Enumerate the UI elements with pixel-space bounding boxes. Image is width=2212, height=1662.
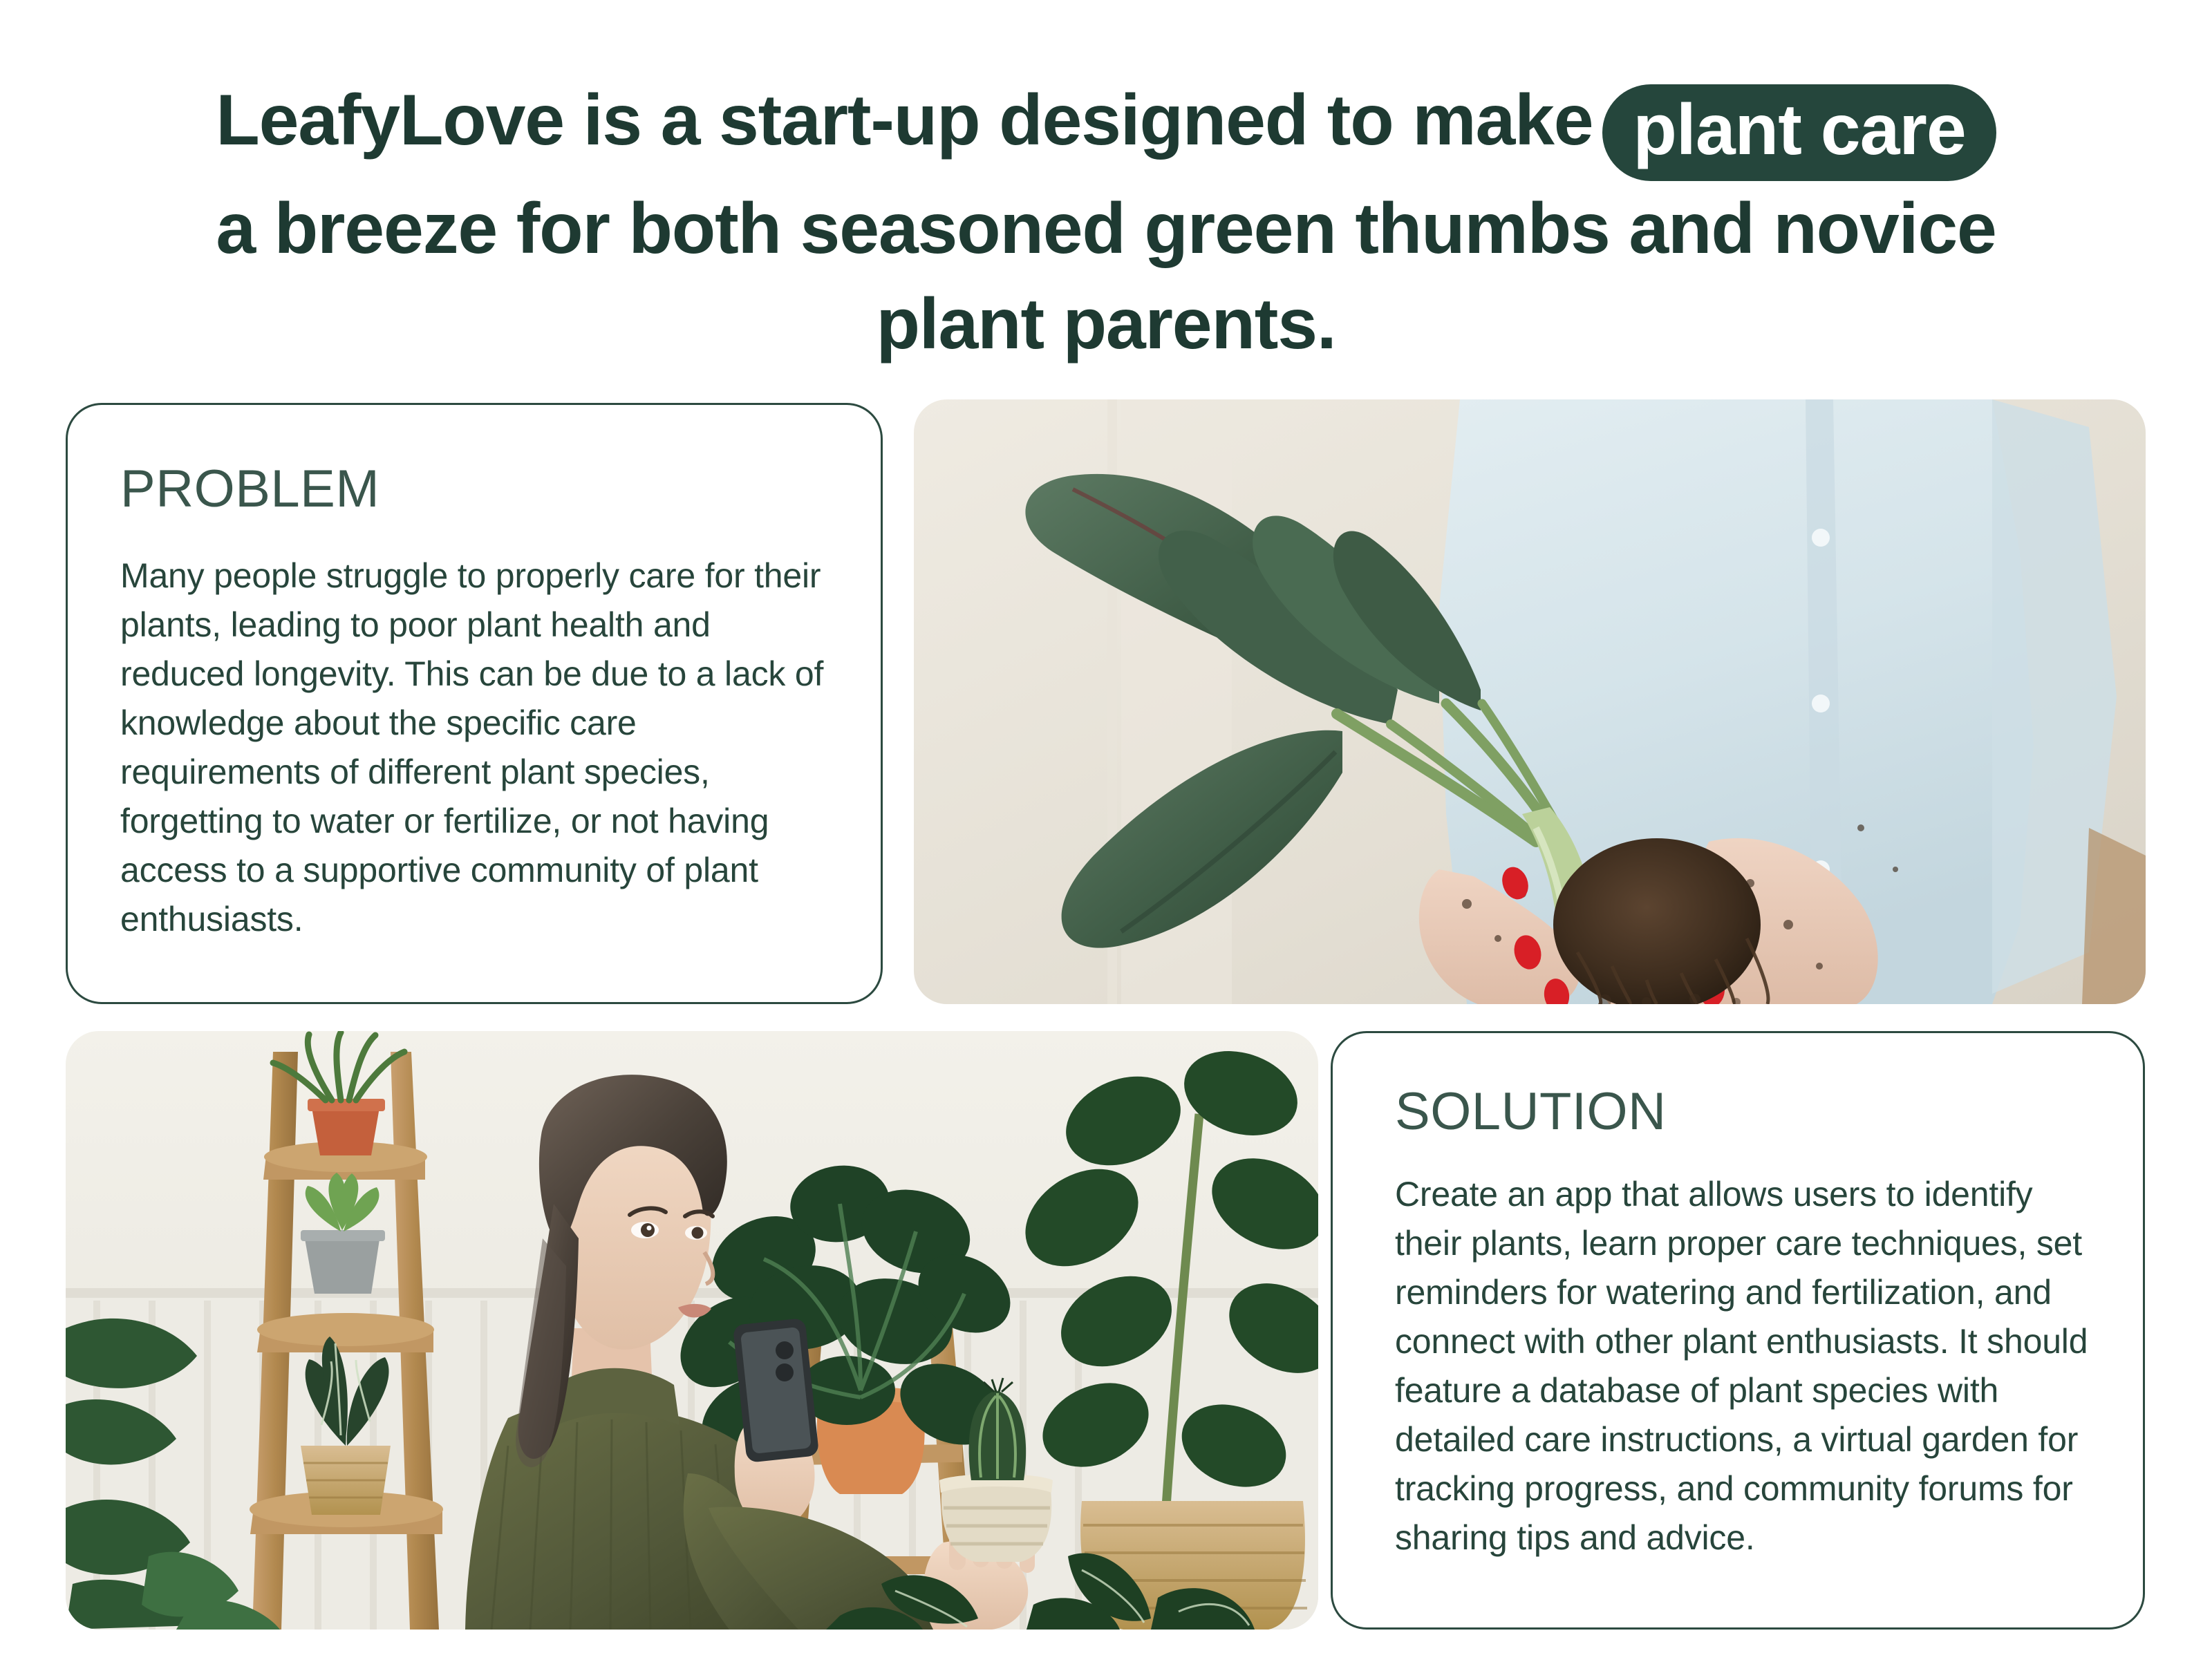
plant-care-badge: plant care: [1602, 84, 1996, 181]
repotting-photo: [914, 399, 2146, 1004]
page-title: LeafyLove is a start-up designed to make…: [124, 73, 2088, 372]
solution-card: SOLUTION Create an app that allows users…: [1331, 1031, 2145, 1630]
slide-canvas: LeafyLove is a start-up designed to make…: [0, 0, 2212, 1662]
problem-heading: PROBLEM: [120, 463, 828, 516]
headline-line-3: plant parents.: [124, 276, 2088, 372]
solution-heading: SOLUTION: [1395, 1086, 2093, 1138]
problem-card: PROBLEM Many people struggle to properly…: [66, 403, 883, 1004]
headline-line-2: a breeze for both seasoned green thumbs …: [124, 181, 2088, 276]
repotting-photo-illustration: [914, 399, 2146, 1004]
plant-identification-photo: [66, 1031, 1318, 1630]
solution-body-text: Create an app that allows users to ident…: [1395, 1170, 2093, 1562]
problem-body-text: Many people struggle to properly care fo…: [120, 551, 828, 944]
headline-text-1: LeafyLove is a start-up designed to make: [216, 80, 1593, 160]
headline-line-1: LeafyLove is a start-up designed to make…: [124, 73, 2088, 181]
plant-identification-illustration: [66, 1031, 1318, 1630]
